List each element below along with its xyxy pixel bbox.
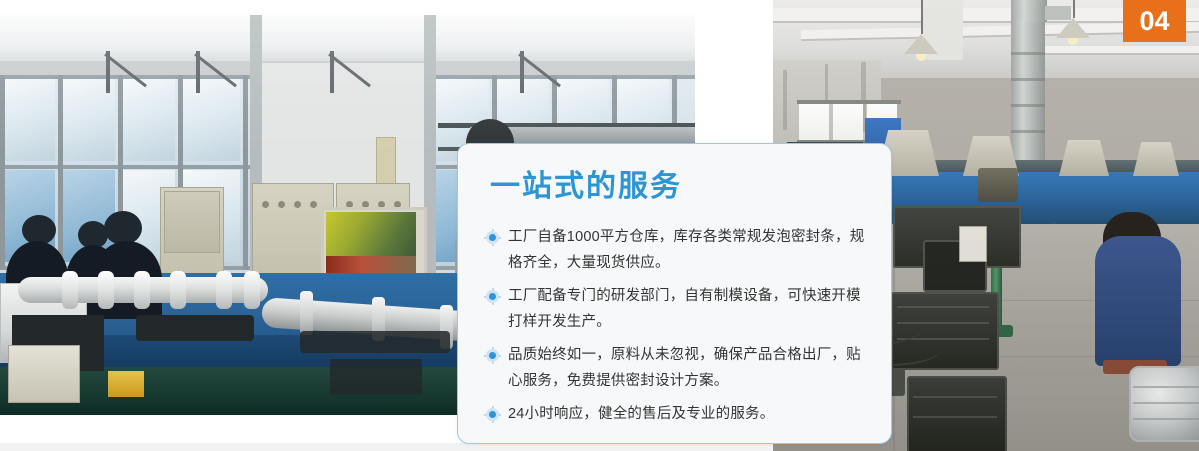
list-item: 工厂自备1000平方仓库，库存各类常规发泡密封条，规格齐全，大量现货供应。 (486, 224, 865, 276)
compass-dot-icon (486, 408, 499, 421)
compass-dot-icon (486, 349, 499, 362)
list-item-text: 工厂自备1000平方仓库，库存各类常规发泡密封条，规格齐全，大量现货供应。 (508, 229, 864, 271)
list-item: 品质始终如一，原料从未忽视，确保产品合格出厂，贴心服务，免费提供密封设计方案。 (486, 342, 865, 394)
list-item-text: 24小时响应，健全的售后及专业的服务。 (508, 406, 774, 422)
list-item: 工厂配备专门的研发部门，自有制模设备，可快速开模打样开发生产。 (486, 283, 865, 335)
section-number-label: 04 (1139, 8, 1169, 35)
list-item: 24小时响应，健全的售后及专业的服务。 (486, 401, 865, 427)
bottom-divider-strip (0, 443, 773, 451)
section-number-badge: 04 (1123, 0, 1186, 42)
service-info-card: 一站式的服务 工厂自备1000平方仓库，库存各类常规发泡密封条，规格齐全，大量现… (457, 143, 892, 444)
compass-dot-icon (486, 231, 499, 244)
compass-dot-icon (486, 290, 499, 303)
card-title: 一站式的服务 (490, 172, 891, 202)
service-bullet-list: 工厂自备1000平方仓库，库存各类常规发泡密封条，规格齐全，大量现货供应。 工厂… (458, 224, 891, 427)
page-root: 04 一站式的服务 工厂自备1000平方仓库，库存各类常规发泡密封条，规格齐全，… (0, 0, 1199, 451)
list-item-text: 品质始终如一，原料从未忽视，确保产品合格出厂，贴心服务，免费提供密封设计方案。 (508, 347, 861, 389)
list-item-text: 工厂配备专门的研发部门，自有制模设备，可快速开模打样开发生产。 (508, 288, 861, 330)
